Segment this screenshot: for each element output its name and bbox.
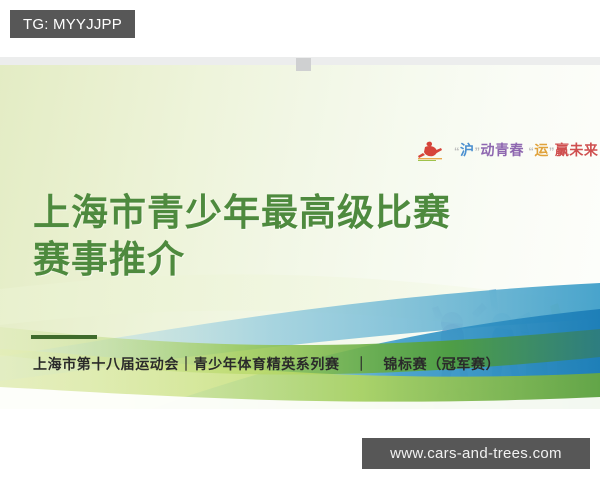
poster-title-line-1: 上海市青少年最高级比赛 (33, 189, 451, 236)
website-watermark: www.cars-and-trees.com (362, 438, 590, 469)
poster-title-line-2: 赛事推介 (33, 236, 451, 283)
slogan-part-hu: 沪 (460, 143, 475, 157)
title-divider-rule (31, 335, 97, 339)
event-slogan: “沪”动青春 “运”赢未来 (454, 143, 598, 158)
poster-title: 上海市青少年最高级比赛 赛事推介 (33, 189, 451, 284)
running-athlete-logo-icon (416, 139, 446, 161)
telegram-handle-badge: TG: MYYJJPP (10, 10, 135, 38)
slogan-part-dongqingchun: 动青春 (481, 143, 525, 157)
poster-subtitle: 上海市第十八届运动会｜青少年体育精英系列赛 ｜ 锦标赛（冠军赛） (33, 354, 500, 374)
slogan-part-yingweilai: 赢未来 (555, 143, 599, 157)
event-logo: “沪”动青春 “运”赢未来 (416, 139, 598, 161)
slogan-part-yun: 运 (534, 143, 549, 157)
poster-card: “沪”动青春 “运”赢未来 上海市青少年最高级比赛 赛事推介 上海市第十八届运动… (0, 57, 600, 409)
